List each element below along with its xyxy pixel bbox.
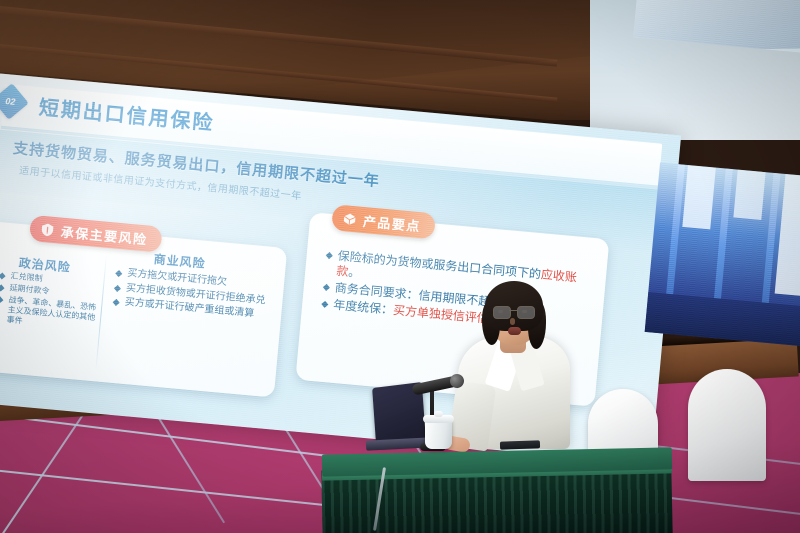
chair-cover-2	[688, 369, 766, 481]
item-text-before: 年度统保：	[333, 298, 394, 317]
presentation-photo: 02 短期出口信用保险 支持货物贸易、服务贸易出口，信用期限不超过一年 适用于以…	[0, 0, 800, 533]
slide-number-label: 02	[0, 87, 25, 115]
lens-right	[517, 306, 535, 319]
mug-knob	[434, 411, 443, 417]
box-icon	[342, 211, 358, 227]
screen-photo-tile-blue	[645, 163, 800, 348]
commercial-risk-list: 买方拖欠或开证行拖欠 买方拒收货物或开证行拒绝承兑 买方或开证行破产重组或清算	[113, 267, 268, 324]
photo-window	[682, 165, 716, 229]
card-divider	[96, 254, 108, 370]
ceiling-beam	[0, 6, 557, 67]
ribbon-label: 产品要点	[362, 211, 421, 235]
list-item: 战争、革命、暴乱、恐怖主义及保险人认定的其他事件	[0, 294, 98, 333]
nose	[510, 318, 515, 325]
glasses-bridge	[509, 310, 517, 311]
slide-content: 02 短期出口信用保险 支持货物贸易、服务贸易出口，信用期限不超过一年 适用于以…	[0, 72, 681, 464]
political-risk-list: 汇兑限制 延期付款令 战争、革命、暴乱、恐怖主义及保险人认定的其他事件	[0, 270, 100, 335]
presenter	[452, 259, 572, 449]
glasses-icon	[493, 306, 535, 317]
phone	[500, 440, 540, 449]
mouth	[508, 327, 521, 335]
shield-icon	[39, 221, 55, 237]
photo-window	[733, 170, 765, 220]
commercial-risk-heading: 商业风险	[153, 250, 206, 272]
item-text-after: 。	[348, 265, 361, 280]
led-presentation-screen: 02 短期出口信用保险 支持货物贸易、服务贸易出口，信用期限不超过一年 适用于以…	[0, 72, 681, 464]
lens-left	[493, 306, 511, 319]
ribbon-label: 承保主要风险	[60, 221, 148, 248]
